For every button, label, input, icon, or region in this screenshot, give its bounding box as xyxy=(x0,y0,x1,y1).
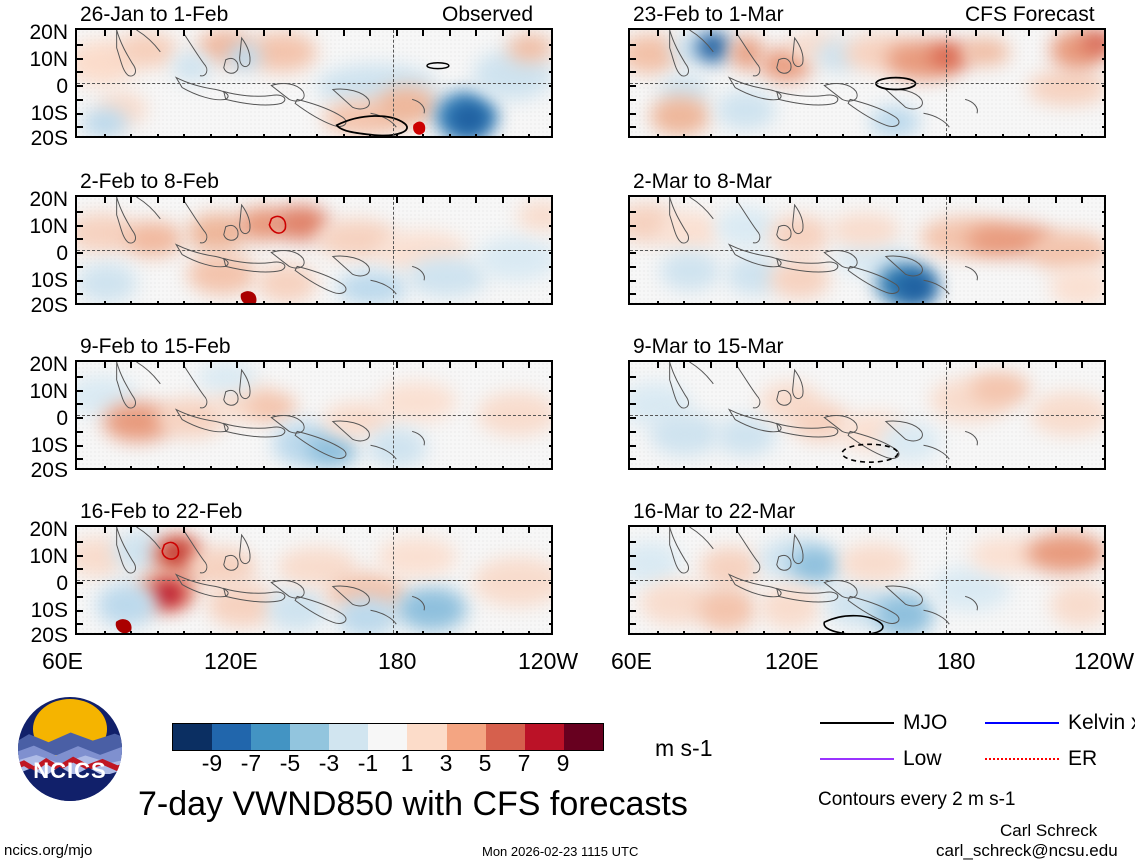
map-panel-cfs-3 xyxy=(628,360,1106,470)
y-axis-label-20n: 20N xyxy=(0,354,68,375)
legend-swatch-mjo xyxy=(820,722,894,724)
colorbar-swatch xyxy=(212,724,251,750)
equator-line xyxy=(630,415,1104,416)
contour-overlay xyxy=(630,362,1104,470)
equator-line xyxy=(77,580,551,581)
y-axis-label-10s: 10S xyxy=(0,270,68,291)
y-axis-label-20s: 20S xyxy=(0,295,68,316)
y-axis-label-10s: 10S xyxy=(0,600,68,621)
panel-title-observed-2: 2-Feb to 8-Feb xyxy=(80,171,219,192)
figure-main-title: 7-day VWND850 with CFS forecasts xyxy=(138,787,688,821)
ncics-logo: NCICS xyxy=(18,697,122,801)
y-axis-label-0: 0 xyxy=(0,408,68,429)
logo-wordmark: NCICS xyxy=(18,758,122,784)
y-axis-label-0: 0 xyxy=(0,243,68,264)
colorbar-tick--1: -1 xyxy=(348,752,388,775)
panel-title-cfs-2: 2-Mar to 8-Mar xyxy=(633,171,772,192)
colorbar-tick-1: 1 xyxy=(387,752,427,775)
legend-item-kelvin: Kelvin x2 xyxy=(985,712,1135,733)
colorbar-swatch xyxy=(290,724,329,750)
colorbar-tick-5: 5 xyxy=(465,752,505,775)
legend-label-er: ER xyxy=(1068,748,1097,769)
y-axis-label-20n: 20N xyxy=(0,22,68,43)
panel-title-observed-4: 16-Feb to 22-Feb xyxy=(80,501,242,522)
x-axis-label-180-right: 180 xyxy=(937,650,975,673)
legend-item-er: ER xyxy=(985,748,1097,769)
dateline-180 xyxy=(946,30,947,136)
map-panel-observed-2 xyxy=(75,195,553,305)
y-axis-label-10n: 10N xyxy=(0,49,68,70)
contour-overlay xyxy=(630,30,1104,138)
x-axis-label-120w-left: 120W xyxy=(518,650,578,673)
colorbar-swatch xyxy=(407,724,446,750)
column-label-observed: Observed xyxy=(442,4,533,25)
dateline-180 xyxy=(946,527,947,633)
colorbar-swatch xyxy=(525,724,564,750)
x-axis-label-60e-left: 60E xyxy=(42,650,83,673)
panel-title-observed-1: 26-Jan to 1-Feb xyxy=(80,4,228,25)
map-panel-cfs-2 xyxy=(628,195,1106,305)
map-panel-observed-3 xyxy=(75,360,553,470)
y-axis-label-0: 0 xyxy=(0,573,68,594)
coastline-overlay xyxy=(77,362,551,470)
legend-item-mjo: MJO xyxy=(820,712,947,733)
dateline-180 xyxy=(393,197,394,303)
legend-item-low: Low xyxy=(820,748,942,769)
contour-overlay xyxy=(77,527,551,635)
colorbar-tick-9: 9 xyxy=(543,752,583,775)
colorbar xyxy=(172,723,604,751)
colorbar-tick--3: -3 xyxy=(309,752,349,775)
colorbar-swatch xyxy=(486,724,525,750)
colorbar-swatch xyxy=(564,724,603,750)
y-axis-label-10s: 10S xyxy=(0,435,68,456)
x-axis-label-120e-left: 120E xyxy=(204,650,258,673)
map-panel-observed-1 xyxy=(75,28,553,138)
colorbar-swatch xyxy=(251,724,290,750)
equator-line xyxy=(77,415,551,416)
legend-swatch-low xyxy=(820,758,894,760)
dateline-180 xyxy=(946,197,947,303)
colorbar-tick--7: -7 xyxy=(231,752,271,775)
dateline-180 xyxy=(393,30,394,136)
colorbar-tick-7: 7 xyxy=(504,752,544,775)
equator-line xyxy=(630,83,1104,84)
dateline-180 xyxy=(393,527,394,633)
colorbar-swatch xyxy=(368,724,407,750)
y-axis-label-20s: 20S xyxy=(0,460,68,481)
legend-label-mjo: MJO xyxy=(903,712,947,733)
legend-swatch-er xyxy=(985,758,1059,760)
legend-swatch-kelvin xyxy=(985,722,1059,724)
equator-line xyxy=(77,250,551,251)
map-panel-observed-4 xyxy=(75,525,553,635)
equator-line xyxy=(630,250,1104,251)
author-name: Carl Schreck xyxy=(1000,822,1097,839)
y-axis-label-20n: 20N xyxy=(0,519,68,540)
site-url[interactable]: ncics.org/mjo xyxy=(4,843,92,858)
panel-title-cfs-4: 16-Mar to 22-Mar xyxy=(633,501,795,522)
equator-line xyxy=(77,83,551,84)
contour-interval-note: Contours every 2 m s-1 xyxy=(818,790,1015,809)
map-panel-cfs-4 xyxy=(628,525,1106,635)
y-axis-label-10s: 10S xyxy=(0,103,68,124)
colorbar-swatch xyxy=(173,724,212,750)
y-axis-label-0: 0 xyxy=(0,76,68,97)
dateline-180 xyxy=(393,362,394,468)
contour-overlay xyxy=(77,197,551,305)
colorbar-tick-3: 3 xyxy=(426,752,466,775)
y-axis-label-10n: 10N xyxy=(0,216,68,237)
map-panel-cfs-1 xyxy=(628,28,1106,138)
y-axis-label-10n: 10N xyxy=(0,381,68,402)
x-axis-label-120e-right: 120E xyxy=(765,650,819,673)
panel-title-cfs-3: 9-Mar to 15-Mar xyxy=(633,336,784,357)
x-axis-label-120w-right: 120W xyxy=(1074,650,1134,673)
y-axis-label-20s: 20S xyxy=(0,128,68,149)
legend-label-kelvin: Kelvin x2 xyxy=(1068,712,1135,733)
x-axis-label-180-left: 180 xyxy=(378,650,416,673)
panel-title-observed-3: 9-Feb to 15-Feb xyxy=(80,336,231,357)
panel-title-cfs-1: 23-Feb to 1-Mar xyxy=(633,4,784,25)
column-label-cfs: CFS Forecast xyxy=(965,4,1095,25)
dateline-180 xyxy=(946,362,947,468)
y-axis-label-20n: 20N xyxy=(0,189,68,210)
y-axis-label-20s: 20S xyxy=(0,625,68,646)
contour-overlay xyxy=(77,30,551,138)
contour-overlay xyxy=(630,527,1104,635)
colorbar-swatch xyxy=(329,724,368,750)
author-email[interactable]: carl_schreck@ncsu.edu xyxy=(936,842,1118,859)
colorbar-units-label: m s-1 xyxy=(655,737,713,760)
colorbar-tick--5: -5 xyxy=(270,752,310,775)
colorbar-swatch xyxy=(447,724,486,750)
colorbar-tick--9: -9 xyxy=(192,752,232,775)
generation-timestamp: Mon 2026-02-23 1115 UTC xyxy=(482,845,638,858)
x-axis-label-60e-right: 60E xyxy=(611,650,652,673)
y-axis-label-10n: 10N xyxy=(0,546,68,567)
coastline-overlay xyxy=(630,197,1104,305)
equator-line xyxy=(630,580,1104,581)
legend-label-low: Low xyxy=(903,748,942,769)
